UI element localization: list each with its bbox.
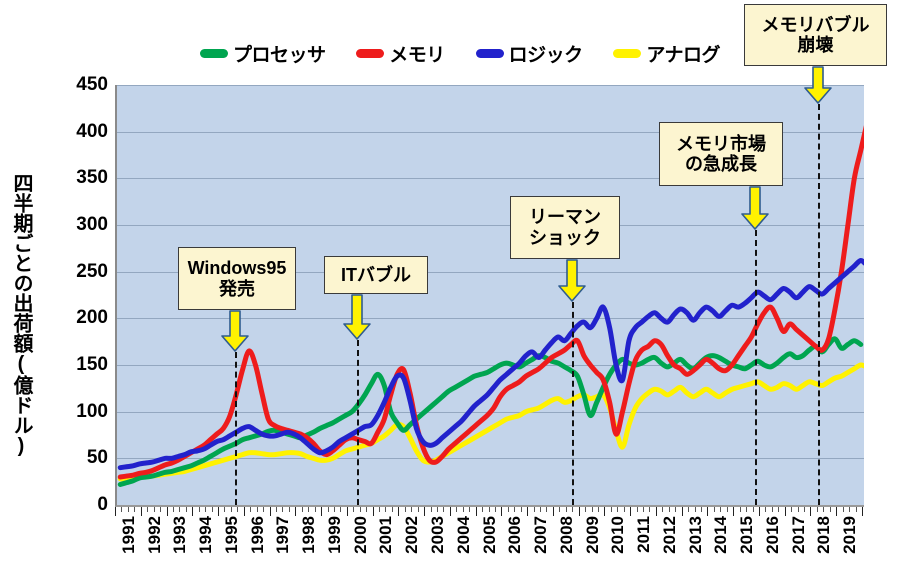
x-tick-mark <box>115 507 116 516</box>
x-tick-mark <box>785 507 786 516</box>
annotation-arrow-icon-memory-bubble-collapse <box>803 66 833 104</box>
x-tick-mark <box>321 507 322 516</box>
x-tick-mark <box>592 507 593 512</box>
x-tick-mark <box>508 507 509 512</box>
x-tick-mark <box>263 507 264 512</box>
x-tick-mark <box>199 507 200 512</box>
x-tick-mark <box>134 507 135 512</box>
x-tick-mark <box>501 507 502 516</box>
x-tick-mark <box>810 507 811 516</box>
annotation-arrow-icon-memory-market-growth <box>740 186 770 230</box>
x-tick-label: 1993 <box>170 516 190 554</box>
x-tick-label: 2012 <box>660 516 680 554</box>
x-tick-mark <box>772 507 773 512</box>
series-line-アナログ <box>120 363 864 479</box>
x-tick-mark <box>179 507 180 512</box>
annotation-box-it-bubble[interactable]: ITバブル <box>324 256 428 294</box>
x-tick-mark <box>405 507 406 512</box>
annotation-dashed-line-memory-bubble-collapse <box>818 104 820 505</box>
x-tick-mark <box>778 507 779 512</box>
x-tick-mark <box>559 507 560 512</box>
legend-item-2[interactable]: ロジック <box>476 40 583 67</box>
y-tick-label: 150 <box>48 354 108 376</box>
annotation-box-memory-bubble-collapse[interactable]: メモリバブル 崩壊 <box>744 4 887 66</box>
x-tick-mark <box>147 507 148 512</box>
x-tick-mark <box>218 507 219 516</box>
x-tick-mark <box>707 507 708 516</box>
x-tick-mark <box>540 507 541 512</box>
x-tick-label: 2009 <box>583 516 603 554</box>
x-tick-mark <box>340 507 341 512</box>
x-tick-label: 2011 <box>634 516 654 553</box>
x-tick-mark <box>128 507 129 512</box>
annotation-arrow-icon-lehman-shock <box>557 259 587 302</box>
x-tick-mark <box>804 507 805 512</box>
x-tick-mark <box>791 507 792 512</box>
x-tick-mark <box>482 507 483 512</box>
x-tick-mark <box>244 507 245 516</box>
x-tick-mark <box>553 507 554 516</box>
x-tick-mark <box>347 507 348 516</box>
x-tick-mark <box>579 507 580 516</box>
x-tick-mark <box>630 507 631 516</box>
x-tick-label: 1997 <box>273 516 293 554</box>
x-tick-mark <box>604 507 605 516</box>
x-tick-mark <box>682 507 683 516</box>
x-tick-mark <box>649 507 650 512</box>
x-tick-mark <box>862 507 863 516</box>
x-tick-mark <box>328 507 329 512</box>
x-tick-mark <box>701 507 702 512</box>
x-tick-mark <box>495 507 496 512</box>
chart-legend: プロセッサメモリロジックアナログ <box>200 38 720 68</box>
x-tick-mark <box>534 507 535 512</box>
y-tick-label: 50 <box>48 447 108 469</box>
x-tick-mark <box>823 507 824 512</box>
x-tick-mark <box>617 507 618 512</box>
x-tick-mark <box>714 507 715 512</box>
x-tick-mark <box>237 507 238 512</box>
y-tick-label: 400 <box>48 121 108 143</box>
x-tick-mark <box>675 507 676 512</box>
x-tick-label: 2019 <box>840 516 860 554</box>
x-tick-label: 2015 <box>737 516 757 554</box>
x-tick-mark <box>385 507 386 512</box>
x-tick-mark <box>315 507 316 512</box>
x-tick-mark <box>585 507 586 512</box>
x-tick-mark <box>450 507 451 516</box>
x-tick-mark <box>224 507 225 512</box>
legend-swatch-icon <box>200 49 228 58</box>
y-axis-title: 四半期ごとの出荷額(億ドル) <box>4 150 38 480</box>
annotation-dashed-line-lehman-shock <box>572 302 574 505</box>
x-tick-mark <box>643 507 644 512</box>
chart-root: プロセッサメモリロジックアナログ 四半期ごとの出荷額(億ドル) 05010015… <box>0 0 900 568</box>
x-tick-mark <box>398 507 399 516</box>
x-tick-label: 2013 <box>686 516 706 554</box>
x-tick-mark <box>276 507 277 512</box>
x-tick-mark <box>121 507 122 512</box>
x-tick-label: 2007 <box>531 516 551 554</box>
annotation-box-windows95[interactable]: Windows95 発売 <box>178 247 296 310</box>
x-tick-mark <box>637 507 638 512</box>
x-axis-tick-labels: 1991199219931994199519961997199819992000… <box>0 516 900 568</box>
legend-item-1[interactable]: メモリ <box>356 40 445 67</box>
x-tick-mark <box>160 507 161 512</box>
x-tick-label: 2008 <box>557 516 577 554</box>
legend-item-0[interactable]: プロセッサ <box>200 40 326 67</box>
x-tick-mark <box>489 507 490 512</box>
x-tick-mark <box>392 507 393 512</box>
y-tick-label: 250 <box>48 261 108 283</box>
legend-label: アナログ <box>646 40 720 67</box>
x-tick-label: 1998 <box>299 516 319 554</box>
x-tick-label: 2010 <box>608 516 628 554</box>
x-tick-mark <box>843 507 844 512</box>
y-axis-tick-labels: 050100150200250300350400450 <box>44 0 108 568</box>
x-tick-mark <box>334 507 335 512</box>
x-tick-mark <box>424 507 425 516</box>
x-tick-mark <box>656 507 657 516</box>
x-tick-label: 2014 <box>711 516 731 554</box>
x-tick-mark <box>669 507 670 512</box>
x-tick-label: 2002 <box>402 516 422 554</box>
x-tick-mark <box>141 507 142 516</box>
x-tick-mark <box>476 507 477 516</box>
x-tick-mark <box>173 507 174 512</box>
x-tick-label: 1999 <box>325 516 345 554</box>
x-tick-mark <box>295 507 296 516</box>
x-tick-mark <box>527 507 528 516</box>
x-tick-mark <box>727 507 728 512</box>
x-tick-mark <box>154 507 155 512</box>
x-tick-label: 1992 <box>145 516 165 554</box>
y-tick-label: 200 <box>48 307 108 329</box>
x-tick-mark <box>366 507 367 512</box>
x-tick-label: 1995 <box>222 516 242 554</box>
annotation-dashed-line-windows95 <box>235 352 237 505</box>
x-tick-mark <box>270 507 271 516</box>
x-tick-mark <box>817 507 818 512</box>
x-tick-mark <box>753 507 754 512</box>
x-tick-mark <box>282 507 283 512</box>
y-tick-label: 350 <box>48 167 108 189</box>
legend-swatch-icon <box>613 49 641 58</box>
annotation-arrow-icon-windows95 <box>220 310 250 352</box>
x-tick-mark <box>514 507 515 512</box>
x-tick-mark <box>212 507 213 512</box>
x-tick-mark <box>695 507 696 512</box>
y-tick-label: 100 <box>48 401 108 423</box>
x-tick-mark <box>308 507 309 512</box>
x-tick-label: 2004 <box>454 516 474 554</box>
x-tick-mark <box>733 507 734 516</box>
x-tick-mark <box>662 507 663 512</box>
x-tick-mark <box>257 507 258 512</box>
x-tick-mark <box>353 507 354 512</box>
x-tick-mark <box>289 507 290 512</box>
x-tick-mark <box>688 507 689 512</box>
x-tick-label: 1996 <box>248 516 268 554</box>
x-tick-mark <box>302 507 303 512</box>
x-tick-mark <box>437 507 438 512</box>
x-tick-mark <box>798 507 799 512</box>
x-tick-label: 2006 <box>505 516 525 554</box>
x-tick-mark <box>431 507 432 512</box>
legend-label: プロセッサ <box>233 40 326 67</box>
x-tick-label: 2001 <box>376 516 396 554</box>
x-tick-mark <box>231 507 232 512</box>
x-tick-mark <box>411 507 412 512</box>
x-tick-mark <box>740 507 741 512</box>
x-tick-mark <box>456 507 457 512</box>
x-tick-mark <box>746 507 747 512</box>
x-tick-mark <box>418 507 419 512</box>
x-tick-mark <box>720 507 721 512</box>
annotation-box-lehman-shock[interactable]: リーマン ショック <box>510 196 620 259</box>
x-tick-mark <box>443 507 444 512</box>
legend-label: メモリ <box>389 40 445 67</box>
annotation-dashed-line-memory-market-growth <box>755 230 757 505</box>
x-tick-label: 2005 <box>480 516 500 554</box>
x-tick-mark <box>759 507 760 516</box>
x-tick-mark <box>856 507 857 512</box>
x-tick-mark <box>546 507 547 512</box>
x-tick-label: 1991 <box>119 516 139 554</box>
annotation-dashed-line-it-bubble <box>357 340 359 505</box>
annotation-box-memory-market-growth[interactable]: メモリ市場 の急成長 <box>659 122 783 186</box>
x-tick-mark <box>205 507 206 512</box>
x-tick-mark <box>167 507 168 516</box>
y-tick-label: 0 <box>48 494 108 516</box>
x-tick-mark <box>192 507 193 516</box>
x-tick-mark <box>521 507 522 512</box>
x-tick-mark <box>463 507 464 512</box>
legend-label: ロジック <box>509 40 583 67</box>
x-tick-mark <box>830 507 831 512</box>
x-tick-label: 2017 <box>789 516 809 554</box>
x-tick-mark <box>360 507 361 512</box>
x-tick-mark <box>624 507 625 512</box>
x-tick-mark <box>611 507 612 512</box>
x-tick-mark <box>765 507 766 512</box>
y-tick-label: 450 <box>48 74 108 96</box>
annotation-arrow-icon-it-bubble <box>342 294 372 340</box>
x-tick-label: 2003 <box>428 516 448 554</box>
legend-swatch-icon <box>356 49 384 58</box>
x-tick-mark <box>469 507 470 512</box>
x-tick-label: 2018 <box>814 516 834 554</box>
x-tick-mark <box>186 507 187 512</box>
x-tick-label: 1994 <box>196 516 216 554</box>
x-tick-label: 2000 <box>351 516 371 554</box>
y-tick-label: 300 <box>48 214 108 236</box>
x-tick-mark <box>849 507 850 512</box>
x-tick-mark <box>836 507 837 516</box>
x-tick-mark <box>373 507 374 516</box>
legend-swatch-icon <box>476 49 504 58</box>
x-tick-mark <box>598 507 599 512</box>
x-tick-mark <box>572 507 573 512</box>
x-tick-mark <box>379 507 380 512</box>
x-tick-label: 2016 <box>763 516 783 554</box>
legend-item-3[interactable]: アナログ <box>613 40 720 67</box>
x-tick-mark <box>566 507 567 512</box>
x-tick-mark <box>250 507 251 512</box>
